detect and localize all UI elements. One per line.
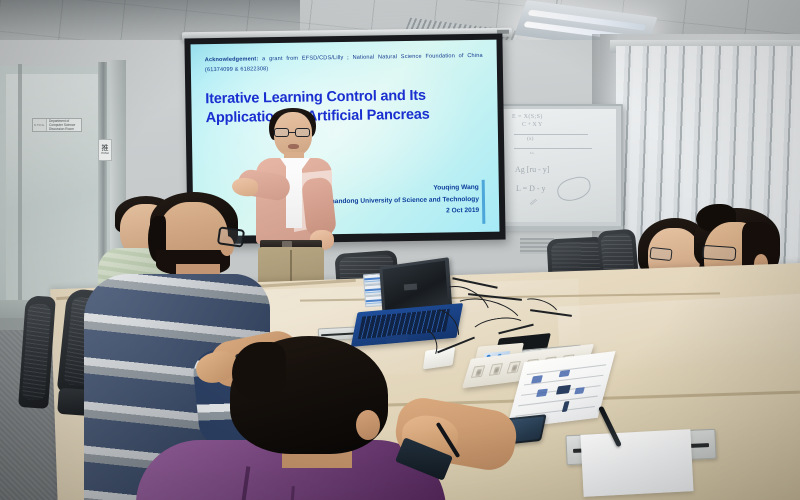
glasses-lens bbox=[295, 128, 310, 137]
attendee-glasses-icon bbox=[702, 245, 737, 261]
presenter-mouth bbox=[288, 144, 299, 149]
push-sign-cn: 推 bbox=[102, 145, 109, 152]
attendee-glasses-icon bbox=[649, 247, 672, 261]
presenter-right-arm bbox=[301, 177, 337, 238]
whiteboard-equation-4: s.t. bbox=[530, 150, 535, 155]
whiteboard-equation-3: (x) bbox=[527, 136, 533, 142]
whiteboard-equation-1: E = X(S;S) bbox=[512, 114, 543, 120]
glasses-lens bbox=[274, 128, 289, 137]
door-sign: K.T.F.G. Department of Computer Science … bbox=[32, 118, 82, 132]
door-sign-logo: K.T.F.G. bbox=[33, 119, 47, 131]
glasses-bridge bbox=[289, 132, 295, 133]
push-sign: 推 PUSH bbox=[98, 139, 112, 161]
push-sign-en: PUSH bbox=[101, 152, 108, 155]
whiteboard-rule bbox=[514, 134, 588, 135]
door-sign-text: Department of Computer Science Discussio… bbox=[47, 119, 81, 131]
whiteboard-rule bbox=[514, 148, 592, 149]
attendee-ear bbox=[356, 410, 380, 440]
whiteboard-equation-5: Ag [ru - y] bbox=[515, 165, 549, 174]
whiteboard-equation-2: C + X Y bbox=[522, 122, 542, 128]
meeting-room-photo: K.T.F.G. Department of Computer Science … bbox=[0, 0, 800, 500]
notepad[interactable] bbox=[580, 429, 693, 497]
whiteboard-equation-6: L = D - y bbox=[516, 184, 546, 193]
presenter-glasses-icon bbox=[274, 128, 312, 138]
attendee-hair-tuft bbox=[232, 342, 286, 400]
attendee-glasses-icon bbox=[217, 226, 245, 247]
laptop-logo bbox=[404, 284, 417, 291]
slide-acknowledgement-label: Acknowledgement: bbox=[205, 56, 259, 63]
attendee-purple-shirt bbox=[196, 336, 536, 500]
glass-mullion bbox=[18, 64, 22, 328]
